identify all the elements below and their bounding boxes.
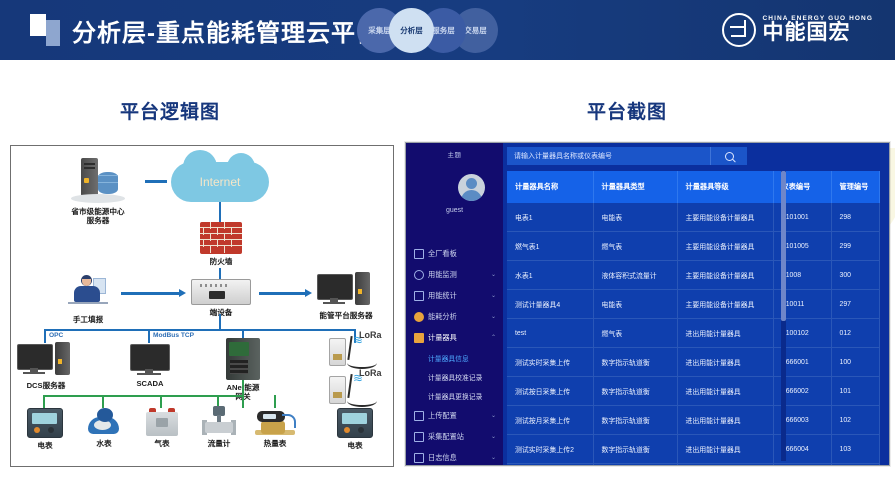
sidebar-subitem-label: 计量器具更换记录	[428, 391, 482, 401]
cell-type: 数字指示轨道衡	[593, 348, 677, 377]
company-logo: CHINA ENERGY GUO HONG 中能国宏	[722, 11, 874, 49]
node-label: Internet	[200, 175, 241, 189]
cell-name: 测试计量器具4	[507, 290, 593, 319]
green-drop-3	[160, 395, 162, 408]
cell-type: 数字指示轨道衡	[593, 377, 677, 406]
electric-meter-icon	[337, 408, 373, 438]
node-edge-device: 端设备	[192, 279, 250, 317]
chevron-down-icon: ⌄	[491, 313, 496, 320]
sidebar-item-label: 用能统计	[428, 291, 457, 301]
node-dcs-server: DCS服务器	[15, 342, 77, 390]
person-icon	[66, 274, 110, 312]
node-meter-water: 水表	[86, 408, 122, 448]
cell-type: 电能表	[593, 203, 677, 232]
cell-name: 测试按日采集上传	[507, 377, 593, 406]
node-label: 手工填报	[73, 315, 103, 324]
node-lora-top: ≋ LoRa	[329, 334, 387, 370]
table-row[interactable]: 测试实时采集上传2 数字指示轨道衡 进出用能计量器具 T666004 103	[507, 435, 879, 464]
search-button[interactable]	[710, 147, 747, 165]
water-meter-icon	[87, 408, 121, 436]
table-row[interactable]: 测试计量器具4 电能表 主要用能设备计量器具 T10011 297	[507, 290, 879, 319]
cell-grade: 主要用能设备计量器具	[677, 203, 773, 232]
cell-manage-no: 012	[831, 319, 879, 348]
sidebar-item-label: 计量器具	[428, 333, 457, 343]
protocol-label-opc: OPC	[49, 332, 63, 339]
node-manual-entry: 手工填报	[55, 274, 121, 324]
green-drop-5	[274, 395, 276, 408]
cell-grade: 进出用能计量器具	[677, 377, 773, 406]
sidebar-subitem-calibration-records[interactable]: 计量器具校准记录	[406, 367, 503, 386]
table-row[interactable]: cess 非自动衡器 进出用能计量器具 T99999 333	[507, 464, 879, 467]
sidebar-item-upload-config[interactable]: 上传配置 ⌄	[406, 405, 503, 426]
sidebar-item-metering-devices[interactable]: 计量器具 ⌃	[406, 327, 503, 348]
cell-manage-no: 102	[831, 406, 879, 435]
node-scada: SCADA	[129, 344, 171, 388]
cell-manage-no: 297	[831, 290, 879, 319]
sidebar-item-label: 采集配置站	[428, 432, 464, 442]
cell-grade: 进出用能计量器具	[677, 464, 773, 467]
stage-circle-analysis[interactable]: 分析层	[389, 8, 434, 53]
cell-grade: 主要用能设备计量器具	[677, 290, 773, 319]
cell-manage-no: 299	[831, 232, 879, 261]
cell-type: 非自动衡器	[593, 464, 677, 467]
cell-manage-no: 100	[831, 348, 879, 377]
heat-meter-icon	[255, 408, 295, 436]
chevron-down-icon: ⌄	[491, 412, 496, 419]
cell-name: test	[507, 319, 593, 348]
cell-meter-no: T99999	[773, 464, 831, 467]
logo-squares-icon	[30, 14, 64, 48]
analysis-icon	[414, 312, 424, 322]
metering-devices-table: 计量器具名称 计量器具类型 计量器具等级 仪表编号 管理编号 电表1 电能表 主…	[507, 171, 880, 466]
node-label: 电表	[347, 441, 362, 450]
page-title: 分析层-重点能耗管理云平台	[72, 13, 381, 48]
dashboard-icon	[414, 249, 424, 259]
sidebar-menu: 全厂看板 用能监测 ⌄ 用能统计 ⌄ 能耗分析 ⌄ 计量器具 ⌃	[406, 243, 503, 466]
cell-name: 电表1	[507, 203, 593, 232]
stage-label: 交易层	[464, 25, 487, 36]
lora-antenna-icon: ≋ LoRa	[329, 372, 387, 408]
cell-grade: 进出用能计量器具	[677, 348, 773, 377]
green-bus-stem	[242, 380, 244, 396]
cell-manage-no: 298	[831, 203, 879, 232]
cell-manage-no: 300	[831, 261, 879, 290]
meter-icon	[414, 333, 424, 343]
cell-name: 水表1	[507, 261, 593, 290]
table-row[interactable]: test 燃气表 进出用能计量器具 T100102 012	[507, 319, 879, 348]
sidebar-username: guest	[406, 207, 503, 214]
stage-circles: 采集层 服务层 交易层 分析层	[357, 8, 517, 54]
cell-grade: 进出用能计量器具	[677, 406, 773, 435]
link-server-internet	[145, 180, 167, 183]
node-meter-gas: 气表	[145, 408, 179, 448]
cell-name: 燃气表1	[507, 232, 593, 261]
node-label: 电表	[37, 441, 52, 450]
company-mark-icon	[722, 13, 756, 47]
dcs-server-icon	[17, 342, 75, 378]
bus-drop-scada	[148, 329, 150, 343]
table-row[interactable]: 水表1 液体容积式流量计 主要用能设备计量器具 T1008 300	[507, 261, 879, 290]
chevron-down-icon: ⌄	[491, 292, 496, 299]
cell-type: 数字指示轨道衡	[593, 435, 677, 464]
platform-server-icon	[317, 272, 375, 308]
platform-sidebar: 主题 guest 全厂看板 用能监测 ⌄ 用能统计 ⌄ 能耗分析 ⌄	[406, 143, 503, 465]
app-header: 分析层-重点能耗管理云平台 采集层 服务层 交易层 分析层 CHINA ENER…	[0, 0, 895, 60]
cell-grade: 主要用能设备计量器具	[677, 261, 773, 290]
column-header-manage-no[interactable]: 管理编号	[831, 171, 879, 203]
bus-trunk	[44, 329, 356, 331]
search-input[interactable]: 请输入计量器具名称或仪表编号	[507, 151, 710, 161]
sidebar-item-analysis[interactable]: 能耗分析 ⌄	[406, 306, 503, 327]
right-section-title: 平台截图	[587, 97, 667, 124]
protocol-label-modbus: ModBus TCP	[153, 332, 194, 339]
table-row[interactable]: 燃气表1 燃气表 主要用能设备计量器具 T101005 299	[507, 232, 879, 261]
table-row[interactable]: 测试按月采集上传 数字指示轨道衡 进出用能计量器具 T666003 102	[507, 406, 879, 435]
node-meter-heat: 热量表	[255, 408, 295, 448]
node-meter-electric-1: 电表	[27, 408, 63, 450]
node-label: 能管平台服务器	[319, 311, 372, 320]
cell-grade: 进出用能计量器具	[677, 319, 773, 348]
node-meter-flow: 流量计	[201, 406, 237, 448]
sidebar-item-label: 能耗分析	[428, 312, 457, 322]
green-drop-1	[43, 395, 45, 408]
sidebar-item-label: 日志信息	[428, 453, 457, 463]
sidebar-item-log-info[interactable]: 日志信息 ⌄	[406, 447, 503, 466]
monitor-icon	[414, 270, 424, 280]
sidebar-subitem-replacement-records[interactable]: 计量器具更换记录	[406, 386, 503, 405]
platform-screenshot: 主题 guest 全厂看板 用能监测 ⌄ 用能统计 ⌄ 能耗分析 ⌄	[405, 142, 890, 466]
flow-meter-icon	[202, 406, 236, 436]
platform-logic-diagram: 省市级能源中心 服务器 Internet 防火墙 手工填报 端设备	[10, 145, 394, 467]
sidebar-item-label: 全厂看板	[428, 249, 457, 259]
link-edge-bus	[219, 314, 221, 330]
green-bus-trunk	[43, 395, 244, 397]
column-header-type[interactable]: 计量器具类型	[593, 171, 677, 203]
sidebar-subitem-label: 计量器具信息	[428, 353, 469, 363]
node-label: 气表	[154, 439, 169, 448]
collect-icon	[414, 432, 424, 442]
edge-device-icon	[191, 279, 251, 305]
avatar[interactable]	[458, 174, 485, 201]
node-platform-server: 能管平台服务器	[311, 272, 381, 320]
upload-icon	[414, 411, 424, 421]
node-meter-electric-2: 电表	[337, 408, 373, 450]
chevron-down-icon: ⌄	[491, 271, 496, 278]
sidebar-item-statistics[interactable]: 用能统计 ⌄	[406, 285, 503, 306]
node-label: LoRa	[359, 330, 382, 340]
search-bar[interactable]: 请输入计量器具名称或仪表编号	[507, 147, 747, 165]
scada-monitor-icon	[130, 344, 170, 376]
platform-content: 请输入计量器具名称或仪表编号 计量器具名称 计量器具类型 计量器具等级 仪表编号…	[503, 143, 889, 465]
table-row[interactable]: 测试实时采集上传 数字指示轨道衡 进出用能计量器具 T666001 100	[507, 348, 879, 377]
chevron-up-icon: ⌃	[491, 334, 496, 341]
anet-gateway-icon	[226, 338, 260, 380]
stats-icon	[414, 291, 424, 301]
sidebar-item-label: 用能监测	[428, 270, 457, 280]
node-label: 防火墙	[210, 257, 233, 266]
node-label: 水表	[96, 439, 111, 448]
cell-type: 数字指示轨道衡	[593, 406, 677, 435]
search-icon	[725, 152, 734, 161]
sidebar-item-label: 上传配置	[428, 411, 457, 421]
green-drop-2	[102, 395, 104, 408]
cell-name: 测试按月采集上传	[507, 406, 593, 435]
sidebar-item-monitor[interactable]: 用能监测 ⌄	[406, 264, 503, 285]
firewall-icon	[200, 222, 242, 254]
cell-manage-no: 101	[831, 377, 879, 406]
node-firewall: 防火墙	[199, 222, 243, 266]
cell-name: 测试实时采集上传2	[507, 435, 593, 464]
cell-name: cess	[507, 464, 593, 467]
cell-type: 燃气表	[593, 232, 677, 261]
node-label: DCS服务器	[27, 381, 66, 390]
table-header-row: 计量器具名称 计量器具类型 计量器具等级 仪表编号 管理编号	[507, 171, 879, 203]
sidebar-theme-label[interactable]: 主题	[406, 143, 503, 159]
chevron-down-icon: ⌄	[491, 433, 496, 440]
cell-type: 电能表	[593, 290, 677, 319]
sidebar-subitem-label: 计量器具校准记录	[428, 372, 482, 382]
node-label: 流量计	[208, 439, 231, 448]
table-row[interactable]: 测试按日采集上传 数字指示轨道衡 进出用能计量器具 T666002 101	[507, 377, 879, 406]
internet-cloud-icon: Internet	[171, 162, 269, 202]
cell-type: 液体容积式流量计	[593, 261, 677, 290]
bus-drop-dcs	[44, 329, 46, 343]
node-label: LoRa	[359, 368, 382, 378]
company-name-cn: 中能国宏	[763, 22, 874, 44]
sidebar-subitem-device-info[interactable]: 计量器具信息	[406, 348, 503, 367]
left-section-title: 平台逻辑图	[120, 97, 220, 124]
gas-meter-icon	[146, 408, 178, 436]
cell-name: 测试实时采集上传	[507, 348, 593, 377]
node-label: 热量表	[264, 439, 287, 448]
stage-label: 服务层	[432, 25, 455, 36]
column-header-name[interactable]: 计量器具名称	[507, 171, 593, 203]
node-lora-bottom: ≋ LoRa	[329, 372, 387, 408]
log-icon	[414, 453, 424, 463]
arrow-right-icon	[179, 289, 186, 297]
chevron-down-icon: ⌄	[491, 454, 496, 461]
node-label: SCADA	[136, 379, 163, 388]
server-tower-icon	[67, 158, 129, 204]
stage-label: 分析层	[400, 25, 423, 36]
green-drop-center	[242, 395, 244, 408]
cell-manage-no: 103	[831, 435, 879, 464]
table-row[interactable]: 电表1 电能表 主要用能设备计量器具 T101001 298	[507, 203, 879, 232]
column-header-grade[interactable]: 计量器具等级	[677, 171, 773, 203]
cell-type: 燃气表	[593, 319, 677, 348]
link-person-edge	[121, 292, 181, 295]
cell-manage-no: 333	[831, 464, 879, 467]
cell-grade: 进出用能计量器具	[677, 435, 773, 464]
sidebar-item-collection-station[interactable]: 采集配置站 ⌄	[406, 426, 503, 447]
cell-grade: 主要用能设备计量器具	[677, 232, 773, 261]
link-edge-platform	[259, 292, 307, 295]
lora-antenna-icon: ≋ LoRa	[329, 334, 387, 370]
scrollbar-thumb[interactable]	[781, 171, 786, 321]
node-label: 省市级能源中心 服务器	[71, 207, 124, 226]
vertical-scrollbar[interactable]	[781, 171, 786, 461]
stage-label: 采集层	[368, 25, 391, 36]
link-internet-firewall	[219, 202, 221, 222]
node-center-server: 省市级能源中心 服务器	[55, 158, 141, 226]
electric-meter-icon	[27, 408, 63, 438]
sidebar-item-dashboard[interactable]: 全厂看板	[406, 243, 503, 264]
